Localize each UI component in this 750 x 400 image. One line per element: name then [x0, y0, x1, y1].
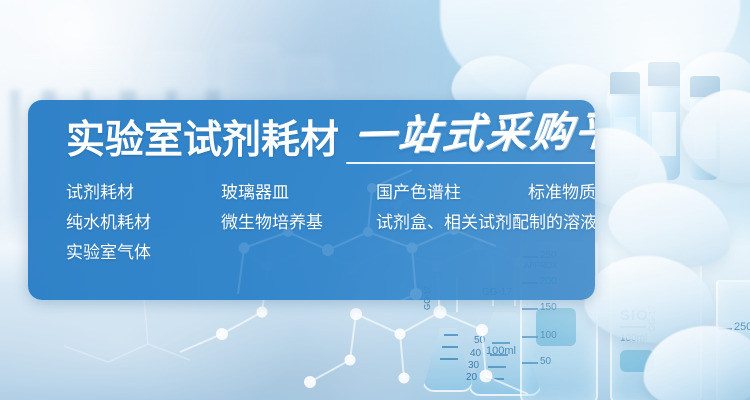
category-row-3: 实验室气体 — [66, 238, 566, 268]
headline-script-text: 一站式采购平台 — [352, 108, 595, 158]
category-item-reagent-consumables[interactable]: 试剂耗材 — [66, 178, 134, 208]
headline: 实验室试剂耗材 一站式采购平台 — [66, 114, 595, 164]
category-item-domestic-chromatography-column[interactable]: 国产色谱柱 — [376, 178, 461, 208]
headline-underline — [346, 162, 595, 164]
content-panel: 实验室试剂耗材 一站式采购平台 试剂耗材 玻璃器皿 国产色谱柱 标准物质 纯水机… — [28, 100, 595, 300]
category-item-microbial-culture-media[interactable]: 微生物培养基 — [221, 208, 323, 238]
category-item-laboratory-gases[interactable]: 实验室气体 — [66, 238, 151, 268]
category-item-reagent-kits-and-solutions[interactable]: 试剂盒、相关试剂配制的溶液 — [376, 208, 595, 238]
laboratory-reagent-banner: GG-17 50 40 30 20 250 APPROX 200 150 — [0, 0, 750, 400]
headline-main-text: 实验室试剂耗材 — [66, 118, 339, 164]
headline-script-wrap: 一站式采购平台 — [352, 114, 595, 164]
category-list: 试剂耗材 玻璃器皿 国产色谱柱 标准物质 纯水机耗材 微生物培养基 试剂盒、相关… — [66, 178, 566, 268]
category-row-2: 纯水机耗材 微生物培养基 试剂盒、相关试剂配制的溶液 — [66, 208, 566, 238]
category-item-water-purifier-consumables[interactable]: 纯水机耗材 — [66, 208, 151, 238]
category-item-reference-materials[interactable]: 标准物质 — [528, 178, 595, 208]
category-item-glassware[interactable]: 玻璃器皿 — [221, 178, 289, 208]
category-row-1: 试剂耗材 玻璃器皿 国产色谱柱 标准物质 — [66, 178, 566, 208]
